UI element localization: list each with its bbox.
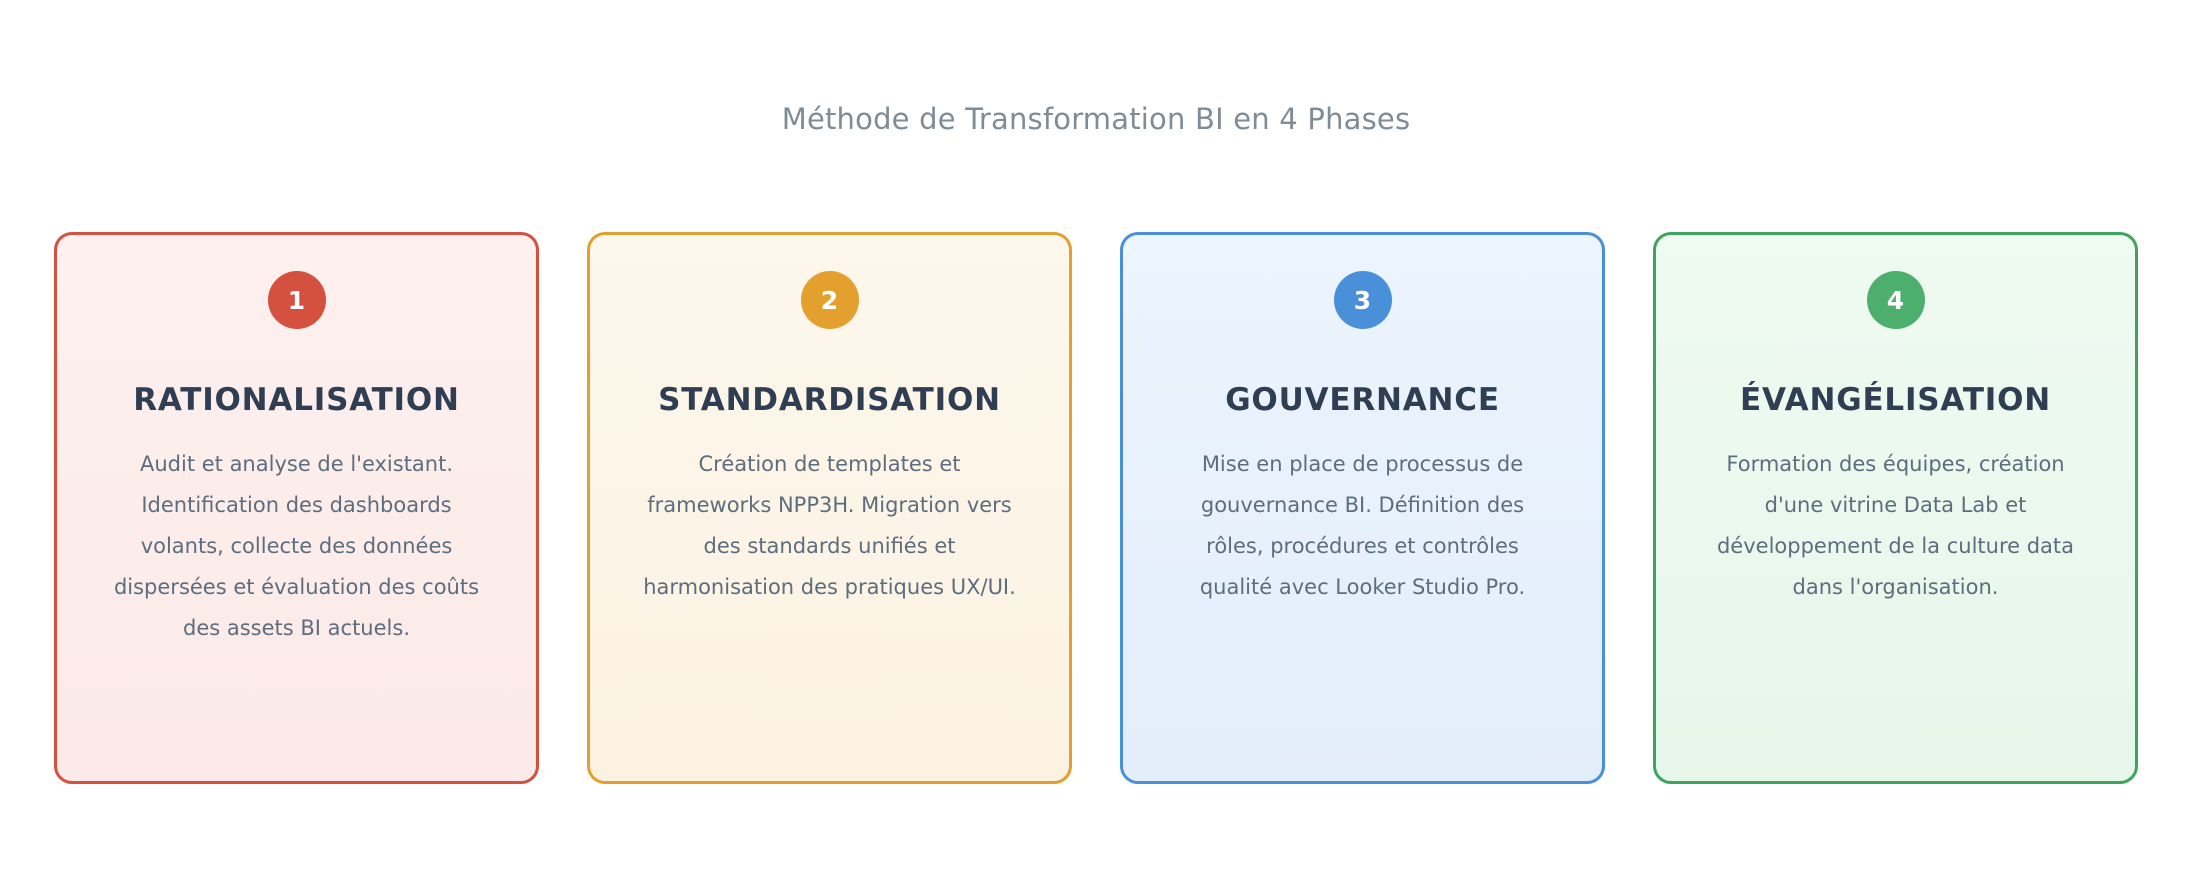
phase-card-rationalisation[interactable]: 1 RATIONALISATION Audit et analyse de l'… [54, 232, 539, 784]
phase-number-label: 4 [1887, 288, 1904, 313]
phase-title: RATIONALISATION [123, 383, 470, 417]
phase-number-badge: 1 [268, 271, 326, 329]
phase-title: GOUVERNANCE [1215, 383, 1510, 417]
phase-number-badge: 3 [1334, 271, 1392, 329]
phase-description: Formation des équipes, création d'une vi… [1656, 444, 2135, 608]
phase-description: Création de templates et frameworks NPP3… [590, 444, 1069, 608]
phase-title: ÉVANGÉLISATION [1730, 383, 2061, 417]
phase-cards-row: 1 RATIONALISATION Audit et analyse de l'… [54, 232, 2138, 784]
phase-card-standardisation[interactable]: 2 STANDARDISATION Création de templates … [587, 232, 1072, 784]
phase-number-label: 2 [821, 288, 838, 313]
phase-number-label: 1 [288, 288, 305, 313]
phase-number-badge: 4 [1867, 271, 1925, 329]
phase-number-badge: 2 [801, 271, 859, 329]
phase-description: Mise en place de processus de gouvernanc… [1123, 444, 1602, 608]
phase-description: Audit et analyse de l'existant. Identifi… [57, 444, 536, 649]
phases-diagram-canvas: Méthode de Transformation BI en 4 Phases… [0, 0, 2192, 874]
phase-number-label: 3 [1354, 288, 1371, 313]
phase-card-gouvernance[interactable]: 3 GOUVERNANCE Mise en place de processus… [1120, 232, 1605, 784]
page-title: Méthode de Transformation BI en 4 Phases [0, 102, 2192, 136]
phase-card-evangelisation[interactable]: 4 ÉVANGÉLISATION Formation des équipes, … [1653, 232, 2138, 784]
phase-title: STANDARDISATION [648, 383, 1011, 417]
